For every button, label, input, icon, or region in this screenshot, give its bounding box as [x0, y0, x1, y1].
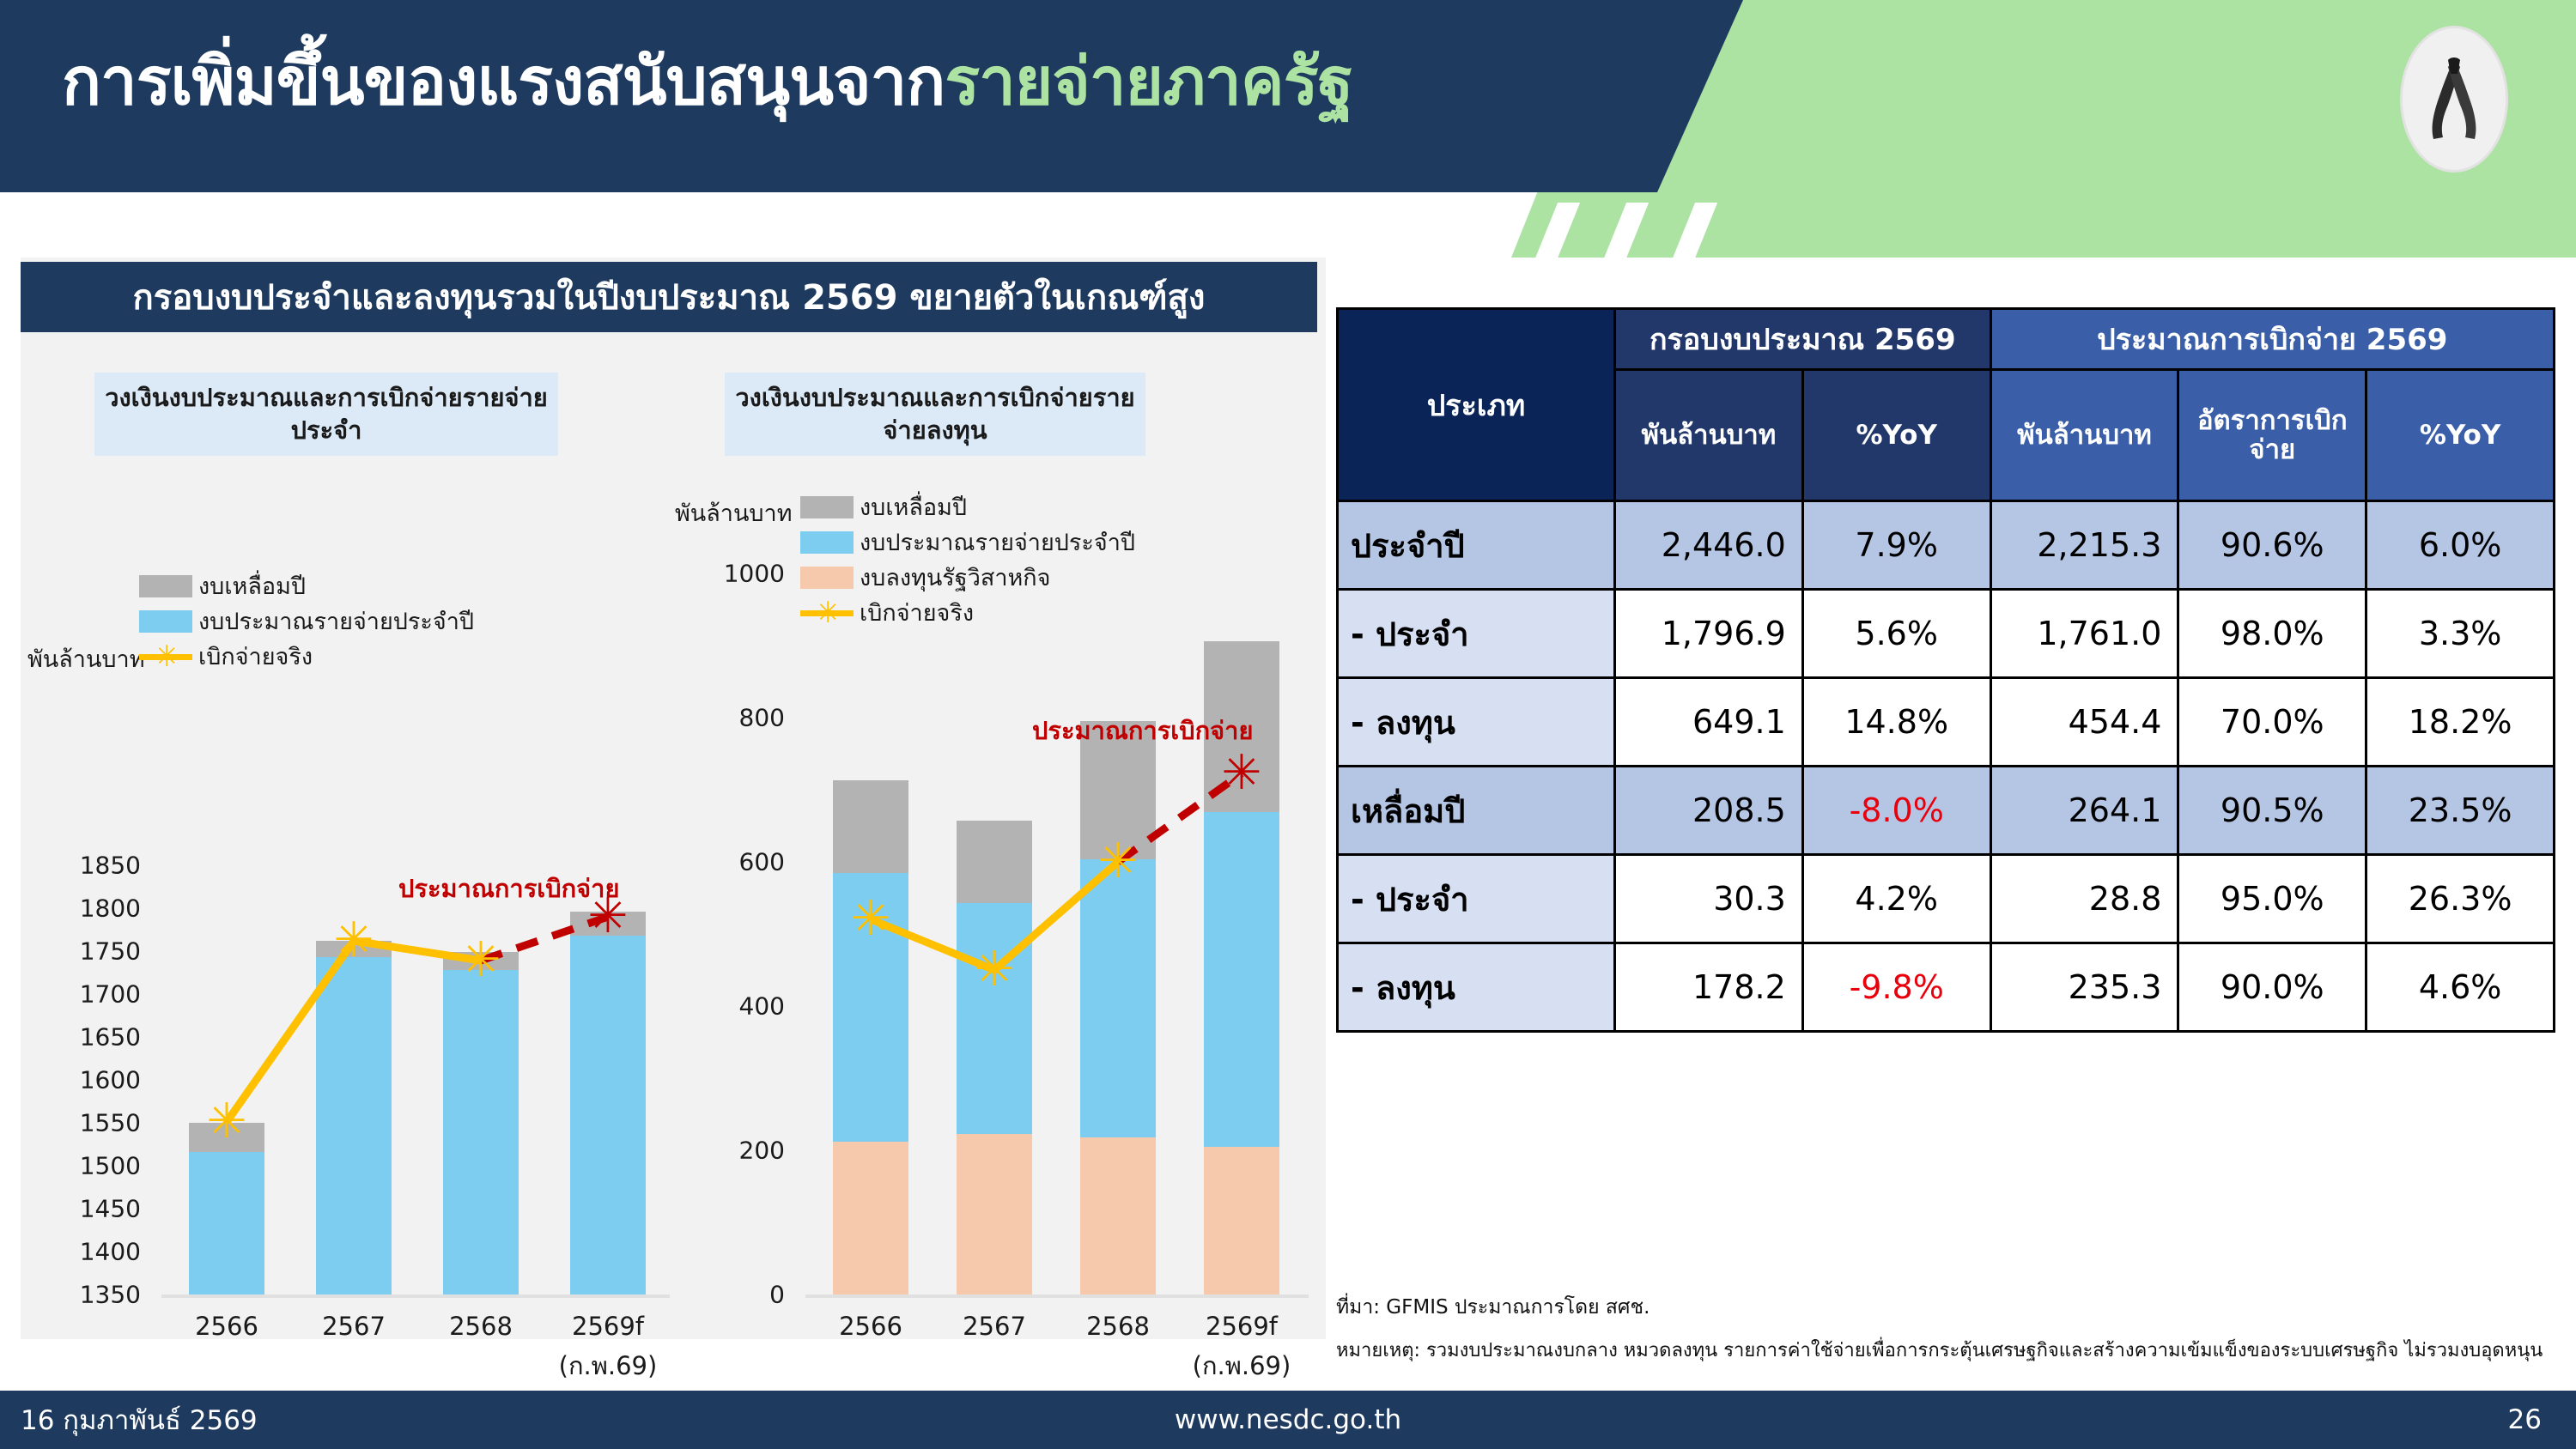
bar-seg-annual-2567 [316, 957, 392, 1294]
cell-budget-yoy: 5.6% [1802, 590, 1990, 678]
cell-disbursement-rate: 70.0% [2178, 678, 2366, 767]
th-sub-yoy-2: %YoY [2366, 370, 2555, 501]
cell-forecast-yoy: 4.6% [2366, 943, 2555, 1032]
chart-current-expenditure: วงเงินงบประมาณและการเบิกจ่ายรายจ่ายประจำ… [21, 343, 673, 1331]
xlabel-current-2569f: 2569f (ก.พ.69) [559, 1312, 658, 1385]
ytick-current-1600: 1600 [21, 1066, 141, 1094]
table-row: - ประจำ 30.3 4.2% 28.8 95.0% 26.3% [1338, 855, 2555, 943]
cell-forecast-yoy: 26.3% [2366, 855, 2555, 943]
cell-forecast-amount: 28.8 [1990, 855, 2178, 943]
ytick-current-1500: 1500 [21, 1152, 141, 1180]
x-axis-line-current [161, 1294, 670, 1298]
xlabel-capital-2568: 2568 [1086, 1312, 1150, 1341]
xlabel-current-2566: 2566 [195, 1312, 258, 1341]
bar-seg-annual-2569f [570, 936, 646, 1294]
ytick-capital-200: 200 [673, 1137, 785, 1165]
bar-seg-annual-cap-2567 [957, 903, 1032, 1134]
cell-budget-yoy: 14.8% [1802, 678, 1990, 767]
xlabel-current-2569f-year: 2569f [572, 1312, 644, 1341]
cell-budget-yoy: -9.8% [1802, 943, 1990, 1032]
table-row: - ประจำ 1,796.9 5.6% 1,761.0 98.0% 3.3% [1338, 590, 2555, 678]
cell-budget-amount: 649.1 [1615, 678, 1803, 767]
ytick-current-1550: 1550 [21, 1109, 141, 1137]
cell-forecast-yoy: 3.3% [2366, 590, 2555, 678]
page-title-main: การเพิ่มขึ้นของแรงสนับสนุนจาก [62, 30, 945, 133]
budget-table-wrapper: ประเภท กรอบงบประมาณ 2569 ประมาณการเบิกจ่… [1336, 307, 2555, 1033]
cell-forecast-amount: 2,215.3 [1990, 501, 2178, 590]
ytick-current-1850: 1850 [21, 852, 141, 880]
footer-page-number: 26 [2508, 1404, 2542, 1435]
ytick-current-1450: 1450 [21, 1195, 141, 1223]
cell-disbursement-rate: 98.0% [2178, 590, 2366, 678]
xlabel-capital-2569f-year: 2569f [1206, 1312, 1278, 1341]
bar-capital-2567 [957, 821, 1032, 1294]
bar-seg-annual-2568 [443, 970, 519, 1294]
ytick-capital-1000: 1000 [673, 560, 785, 588]
cell-forecast-yoy: 18.2% [2366, 678, 2555, 767]
bar-seg-carryover-cap-2566 [833, 780, 908, 873]
ytick-capital-800: 800 [673, 704, 785, 732]
cell-budget-amount: 178.2 [1615, 943, 1803, 1032]
cell-budget-amount: 208.5 [1615, 767, 1803, 855]
th-group-budget-frame: กรอบงบประมาณ 2569 [1615, 309, 1991, 370]
row-label: - ลงทุน [1338, 943, 1615, 1032]
cell-forecast-amount: 1,761.0 [1990, 590, 2178, 678]
cell-forecast-yoy: 6.0% [2366, 501, 2555, 590]
th-sub-billion-baht-1: พันล้านบาท [1615, 370, 1803, 501]
bar-current-2568 [443, 952, 519, 1294]
th-category: ประเภท [1338, 309, 1615, 501]
bar-capital-2566 [833, 780, 908, 1294]
bar-seg-annual-cap-2569f [1204, 812, 1279, 1147]
xlabel-capital-2569f-note: (ก.พ.69) [1193, 1346, 1291, 1385]
ytick-current-1800: 1800 [21, 894, 141, 923]
xlabel-current-2567: 2567 [322, 1312, 386, 1341]
annotation-forecast-current: ประมาณการเบิกจ่าย [398, 869, 619, 908]
th-sub-disbursement-rate: อัตราการเบิกจ่าย [2178, 370, 2366, 501]
ytick-current-1400: 1400 [21, 1238, 141, 1266]
bar-seg-soe-2568 [1080, 1137, 1156, 1294]
table-remark-note: หมายเหตุ: รวมงบประมาณงบกลาง หมวดลงทุน รา… [1336, 1335, 2543, 1365]
cell-budget-yoy: 7.9% [1802, 501, 1990, 590]
header-diagonal-stripes [1511, 203, 2112, 258]
budget-table-head: ประเภท กรอบงบประมาณ 2569 ประมาณการเบิกจ่… [1338, 309, 2555, 501]
footer-date: 16 กุมภาพันธ์ 2569 [21, 1398, 258, 1441]
plot-area-capital: 1000 800 600 400 200 0 [673, 343, 1326, 1331]
footer-website[interactable]: www.nesdc.go.th [1175, 1404, 1401, 1435]
th-group-disbursement-forecast: ประมาณการเบิกจ่าย 2569 [1990, 309, 2554, 370]
bar-capital-2568 [1080, 721, 1156, 1294]
cell-budget-amount: 2,446.0 [1615, 501, 1803, 590]
bar-seg-annual-cap-2568 [1080, 859, 1156, 1137]
budget-table: ประเภท กรอบงบประมาณ 2569 ประมาณการเบิกจ่… [1336, 307, 2555, 1033]
page-title: การเพิ่มขึ้นของแรงสนับสนุนจากรายจ่ายภาคร… [62, 26, 1625, 137]
ytick-current-1700: 1700 [21, 980, 141, 1009]
page-footer: 16 กุมภาพันธ์ 2569 www.nesdc.go.th 26 [0, 1391, 2576, 1449]
bar-seg-soe-2569f [1204, 1147, 1279, 1294]
bar-seg-soe-2566 [833, 1142, 908, 1294]
cell-forecast-amount: 264.1 [1990, 767, 2178, 855]
xlabel-current-2569f-note: (ก.พ.69) [559, 1346, 658, 1385]
chart-capital-expenditure: วงเงินงบประมาณและการเบิกจ่ายรายจ่ายลงทุน… [673, 343, 1326, 1331]
xlabel-capital-2567: 2567 [963, 1312, 1026, 1341]
table-row: เหลื่อมปี 208.5 -8.0% 264.1 90.5% 23.5% [1338, 767, 2555, 855]
row-label: - ประจำ [1338, 590, 1615, 678]
xlabel-current-2568: 2568 [449, 1312, 513, 1341]
budget-table-body: ประจำปี 2,446.0 7.9% 2,215.3 90.6% 6.0% … [1338, 501, 2555, 1032]
ytick-capital-0: 0 [673, 1281, 785, 1309]
table-source-note: ที่มา: GFMIS ประมาณการโดย สศช. [1336, 1292, 1649, 1323]
bar-current-2569f [570, 912, 646, 1294]
mourning-ribbon-badge [2400, 26, 2508, 173]
xlabel-capital-2569f: 2569f (ก.พ.69) [1193, 1312, 1291, 1385]
cell-budget-yoy: 4.2% [1802, 855, 1990, 943]
ytick-current-1750: 1750 [21, 937, 141, 966]
cell-disbursement-rate: 90.6% [2178, 501, 2366, 590]
cell-forecast-amount: 235.3 [1990, 943, 2178, 1032]
cell-disbursement-rate: 90.5% [2178, 767, 2366, 855]
row-label: - ลงทุน [1338, 678, 1615, 767]
cell-disbursement-rate: 90.0% [2178, 943, 2366, 1032]
bar-seg-soe-2567 [957, 1134, 1032, 1294]
cell-budget-amount: 1,796.9 [1615, 590, 1803, 678]
cell-budget-yoy: -8.0% [1802, 767, 1990, 855]
cell-budget-amount: 30.3 [1615, 855, 1803, 943]
ytick-capital-600: 600 [673, 848, 785, 876]
ytick-current-1650: 1650 [21, 1023, 141, 1052]
table-row: ประจำปี 2,446.0 7.9% 2,215.3 90.6% 6.0% [1338, 501, 2555, 590]
panel-banner: กรอบงบประจำและลงทุนรวมในปีงบประมาณ 2569 … [21, 262, 1317, 332]
annotation-forecast-capital: ประมาณการเบิกจ่าย [1032, 711, 1253, 750]
th-sub-yoy-1: %YoY [1802, 370, 1990, 501]
table-row: - ลงทุน 649.1 14.8% 454.4 70.0% 18.2% [1338, 678, 2555, 767]
plot-area-current: 1850 1800 1750 1700 1650 1600 1550 1500 … [21, 343, 673, 1331]
xlabel-capital-2566: 2566 [839, 1312, 902, 1341]
th-sub-billion-baht-2: พันล้านบาท [1990, 370, 2178, 501]
row-label: ประจำปี [1338, 501, 1615, 590]
cell-disbursement-rate: 95.0% [2178, 855, 2366, 943]
page-title-highlight: รายจ่ายภาครัฐ [945, 30, 1352, 133]
mourning-ribbon-icon [2426, 50, 2482, 149]
cell-forecast-amount: 454.4 [1990, 678, 2178, 767]
table-row: - ลงทุน 178.2 -9.8% 235.3 90.0% 4.6% [1338, 943, 2555, 1032]
row-label: - ประจำ [1338, 855, 1615, 943]
bar-seg-annual-2566 [189, 1152, 264, 1294]
ytick-current-1350: 1350 [21, 1281, 141, 1309]
row-label: เหลื่อมปี [1338, 767, 1615, 855]
cell-forecast-yoy: 23.5% [2366, 767, 2555, 855]
bar-current-2567 [316, 941, 392, 1294]
table-header-row-groups: ประเภท กรอบงบประมาณ 2569 ประมาณการเบิกจ่… [1338, 309, 2555, 370]
bar-seg-carryover-cap-2567 [957, 821, 1032, 903]
x-axis-line-capital [805, 1294, 1309, 1298]
ytick-capital-400: 400 [673, 992, 785, 1021]
